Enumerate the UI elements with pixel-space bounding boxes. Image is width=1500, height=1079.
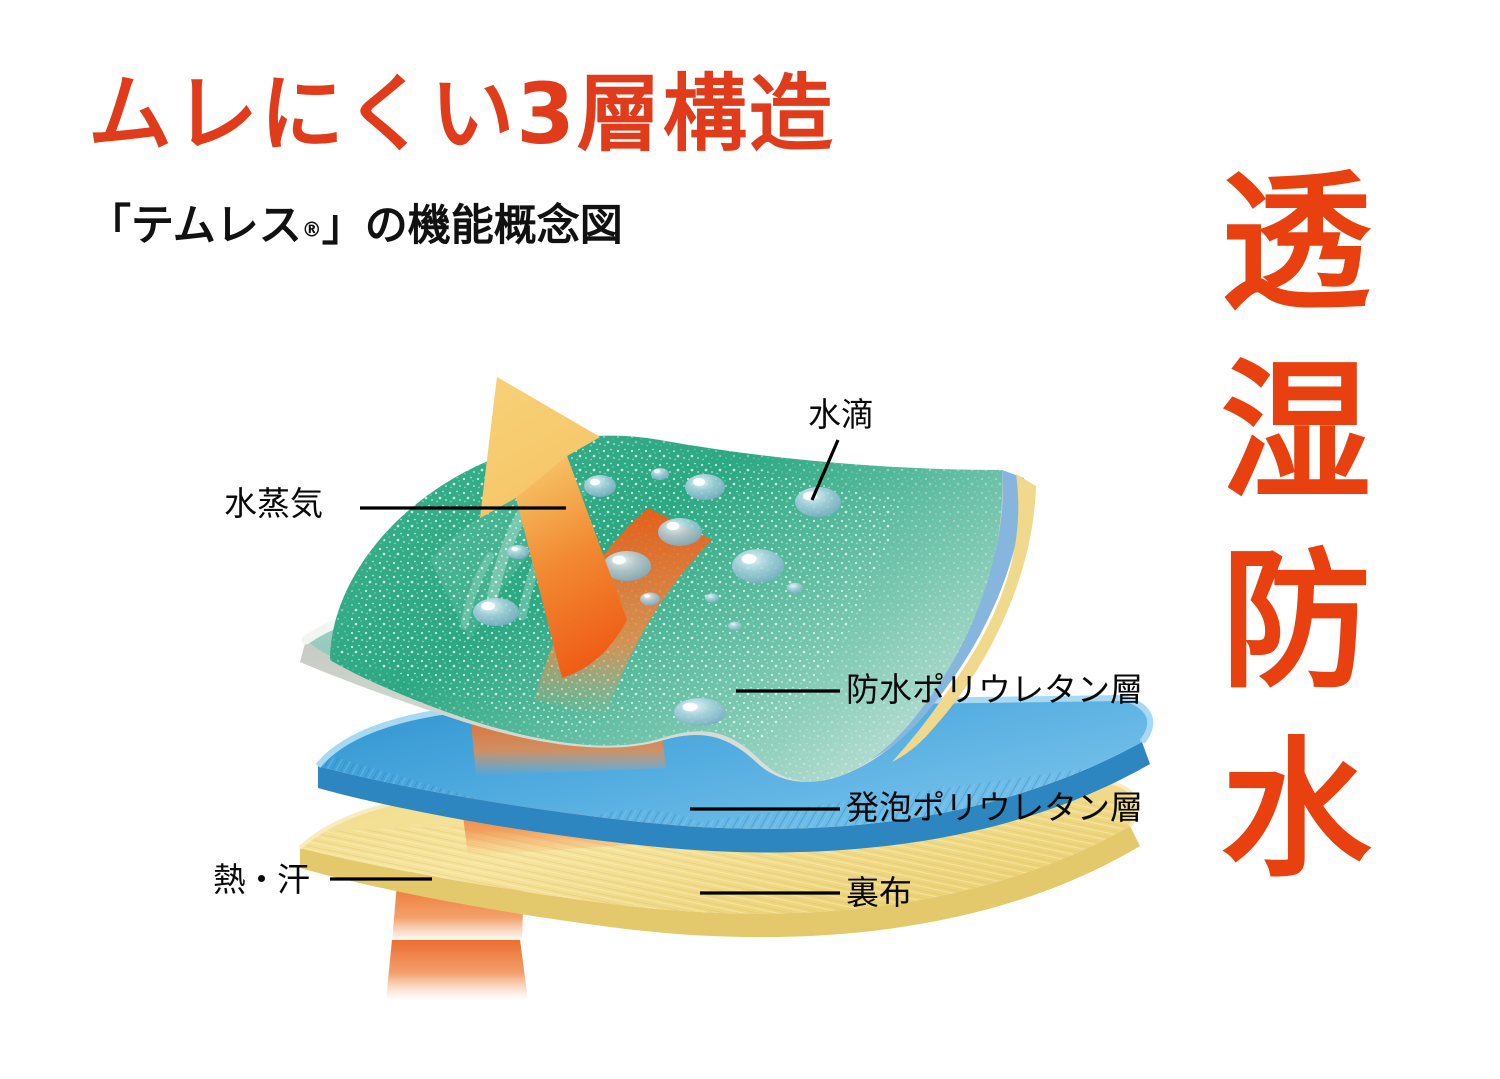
label-water-vapor: 水蒸気 xyxy=(224,487,323,520)
label-lining-fabric: 裏布 xyxy=(846,876,912,909)
label-heat-sweat: 熱・汗 xyxy=(213,863,309,896)
label-waterproof-polyurethane-layer: 防水ポリウレタン層 xyxy=(846,673,1143,706)
poster-canvas: ムレにくい3層構造 「テムレス®」の機能概念図 透 湿 防 水 xyxy=(0,0,1500,1079)
label-water-droplet: 水滴 xyxy=(808,398,874,431)
label-foam-polyurethane-layer: 発泡ポリウレタン層 xyxy=(846,791,1143,824)
three-layer-structure-diagram xyxy=(0,0,1500,1079)
